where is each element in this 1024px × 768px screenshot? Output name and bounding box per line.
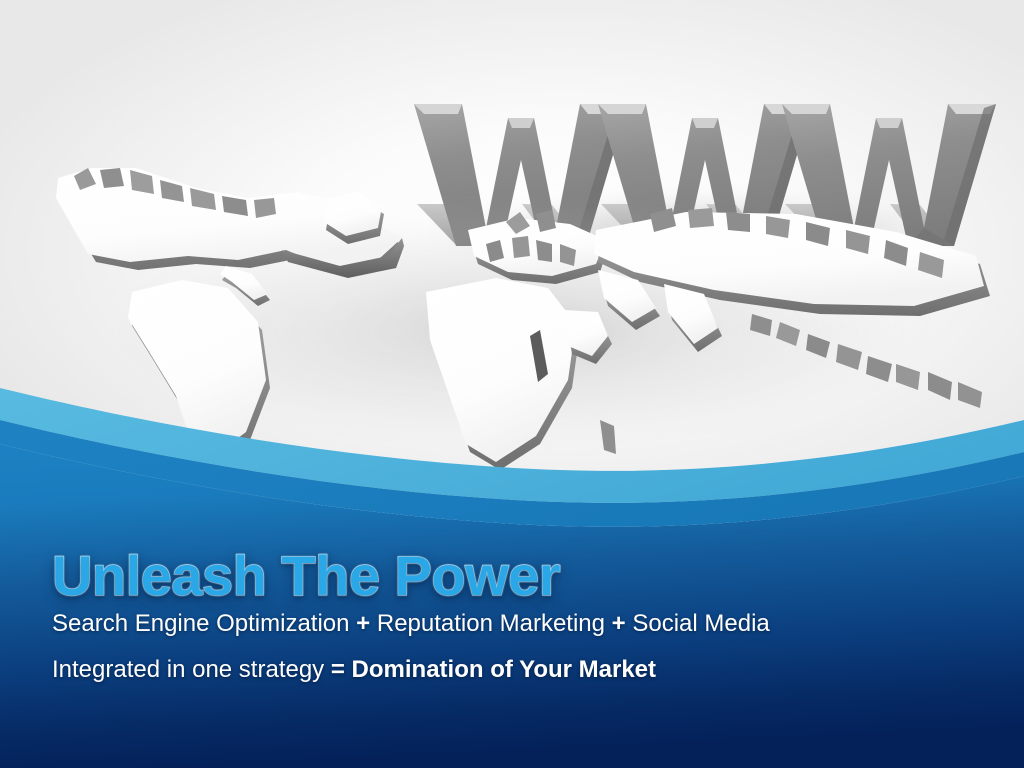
world-map-3d-graphic xyxy=(0,0,1024,500)
subtitle-line-1: Search Engine Optimization + Reputation … xyxy=(52,610,952,638)
subtitle-line-2: Integrated in one strategy = Domination … xyxy=(52,656,952,684)
slide-canvas: Unleash The Power Search Engine Optimiza… xyxy=(0,0,1024,768)
hero-stage xyxy=(0,0,1024,500)
plus-sign-1: + xyxy=(356,610,370,637)
page-title: Unleash The Power xyxy=(52,548,952,604)
subtitle-1-part-2: Reputation Marketing xyxy=(370,610,611,637)
subtitle-2-emphasis: = Domination of Your Market xyxy=(331,656,656,683)
plus-sign-2: + xyxy=(612,610,626,637)
subtitle-2-part-1: Integrated in one strategy xyxy=(52,656,331,683)
headline-block: Unleash The Power Search Engine Optimiza… xyxy=(52,548,952,683)
subtitle-1-part-1: Search Engine Optimization xyxy=(52,610,356,637)
subtitle-1-part-3: Social Media xyxy=(626,610,770,637)
